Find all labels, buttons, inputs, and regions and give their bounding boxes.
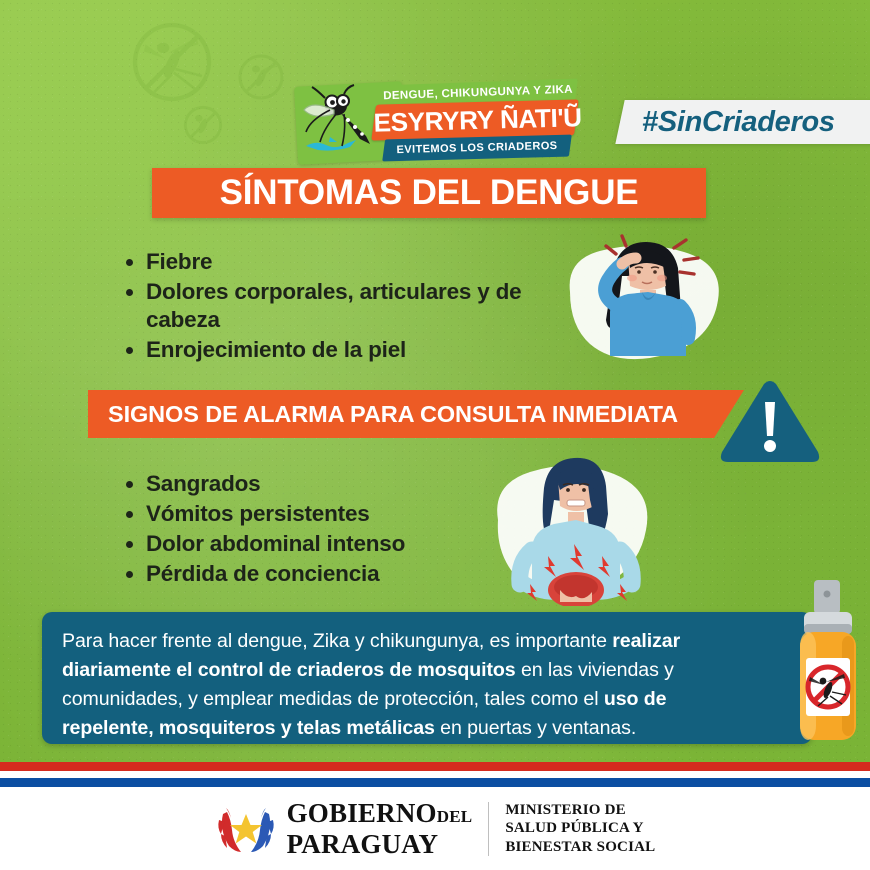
warning-triangle-icon <box>718 378 822 466</box>
info-box: Para hacer frente al dengue, Zika y chik… <box>42 612 812 744</box>
ministry-line-3: BIENESTAR SOCIAL <box>505 838 655 857</box>
info-box-text: Para hacer frente al dengue, Zika y chik… <box>42 612 812 743</box>
list-item: Enrojecimiento de la piel <box>122 336 542 364</box>
flag-stripe-blue <box>0 778 870 787</box>
no-mosquito-watermark-icon <box>182 104 224 146</box>
government-wordmark: GOBIERNODEL PARAGUAY <box>287 800 473 858</box>
no-mosquito-watermark-icon <box>236 52 286 102</box>
page-title-text: SÍNTOMAS DEL DENGUE <box>152 168 706 218</box>
woman-with-abdominal-pain-illustration <box>482 444 662 606</box>
campaign-logo: DENGUE, CHIKUNGUNYA Y ZIKA ESYRYRY ÑATI'… <box>296 82 576 164</box>
info-plain: Para hacer frente al dengue, Zika y chik… <box>62 630 612 652</box>
paraguay-text: PARAGUAY <box>287 830 473 858</box>
alarm-banner-text: SIGNOS DE ALARMA PARA CONSULTA INMEDIATA <box>88 390 744 438</box>
list-item: Pérdida de conciencia <box>122 560 542 588</box>
symptoms-list: FiebreDolores corporales, articulares y … <box>122 248 542 366</box>
list-item: Dolores corporales, articulares y de cab… <box>122 278 542 334</box>
ministry-line-2: SALUD PÚBLICA Y <box>505 819 655 838</box>
ministry-wordmark: MINISTERIO DE SALUD PÚBLICA Y BIENESTAR … <box>505 801 655 857</box>
gobierno-text: GOBIERNO <box>287 798 437 828</box>
footer: GOBIERNODEL PARAGUAY MINISTERIO DE SALUD… <box>0 787 870 870</box>
list-item: Fiebre <box>122 248 542 276</box>
infographic-poster: DENGUE, CHIKUNGUNYA Y ZIKA ESYRYRY ÑATI'… <box>0 0 870 870</box>
logo-tagline-bottom-text: EVITEMOS LOS CRIADEROS <box>383 135 570 162</box>
no-mosquito-watermark-icon <box>128 18 216 106</box>
list-item: Dolor abdominal intenso <box>122 530 542 558</box>
flag-stripe-red <box>0 762 870 771</box>
del-text: DEL <box>437 807 473 826</box>
hashtag-banner: #SinCriaderos <box>615 100 870 144</box>
flag-stripe-white <box>0 771 870 778</box>
ministry-line-1: MINISTERIO DE <box>505 801 655 820</box>
list-item: Vómitos persistentes <box>122 500 542 528</box>
logo-tagline-bottom: EVITEMOS LOS CRIADEROS <box>382 135 572 162</box>
footer-divider <box>488 802 489 856</box>
government-line-1: GOBIERNODEL <box>287 800 473 830</box>
hashtag-text: #SinCriaderos <box>620 100 870 144</box>
mosquito-repellent-spray-icon <box>788 578 868 750</box>
alarm-signs-list: SangradosVómitos persistentesDolor abdom… <box>122 470 542 590</box>
list-item: Sangrados <box>122 470 542 498</box>
woman-with-headache-illustration <box>552 228 732 368</box>
info-plain: en puertas y ventanas. <box>435 717 636 739</box>
alarm-banner: SIGNOS DE ALARMA PARA CONSULTA INMEDIATA <box>88 390 744 438</box>
paraguay-coat-of-arms-icon <box>215 800 277 858</box>
page-title: SÍNTOMAS DEL DENGUE <box>152 168 706 218</box>
